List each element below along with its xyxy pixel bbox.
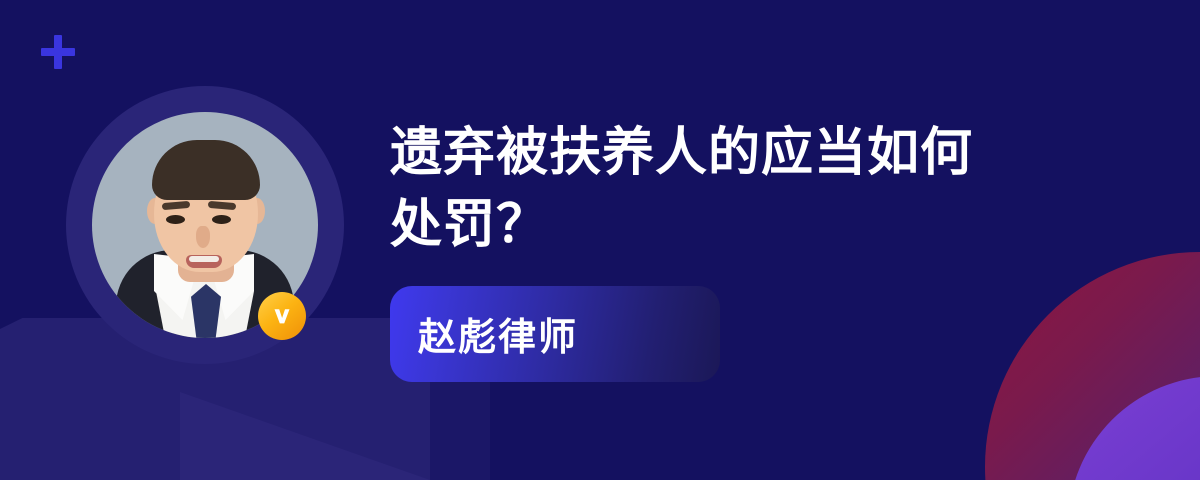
portrait-eye-right (212, 215, 231, 224)
verified-badge-icon (258, 292, 306, 340)
portrait-teeth (189, 256, 219, 262)
plus-icon-bar-vertical (54, 35, 62, 69)
portrait-hair (152, 140, 260, 200)
portrait-eye-left (166, 215, 185, 224)
avatar (66, 86, 344, 364)
page-title: 遗弃被扶养人的应当如何 处罚？ (390, 118, 1090, 262)
lawyer-name-button[interactable]: 赵彪律师 (390, 286, 720, 382)
content-block: 遗弃被扶养人的应当如何 处罚？ 赵彪律师 (390, 118, 1090, 382)
portrait-nose (196, 226, 210, 248)
plus-icon (41, 35, 75, 69)
lawyer-qa-banner: 遗弃被扶养人的应当如何 处罚？ 赵彪律师 (0, 0, 1200, 480)
